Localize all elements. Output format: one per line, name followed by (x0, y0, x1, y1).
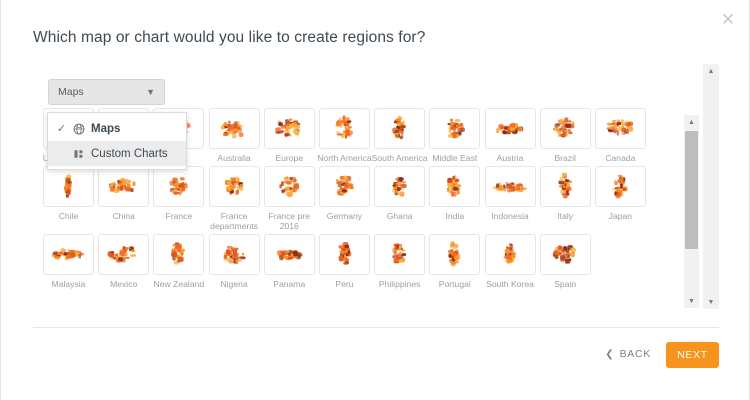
map-grid-item[interactable]: Spain (539, 234, 592, 290)
map-thumbnail-india[interactable] (429, 166, 480, 207)
map-grid-item[interactable]: France departments (208, 166, 261, 232)
map-thumbnail-label: South Korea (479, 279, 541, 290)
map-thumbnail-middle-east[interactable] (429, 108, 480, 149)
map-thumbnail-label: Spain (534, 279, 596, 290)
map-grid-item[interactable]: South America (373, 108, 426, 164)
map-thumbnail-indonesia[interactable] (485, 166, 536, 207)
map-grid-item[interactable]: China (97, 166, 150, 232)
back-button[interactable]: ❮ BACK (605, 348, 651, 360)
map-type-dropdown-value: Maps (58, 86, 146, 98)
map-type-dropdown-menu[interactable]: ✓MapsCustom Charts (47, 112, 187, 170)
map-thumbnail-portugal[interactable] (429, 234, 480, 275)
map-thumbnail-ghana[interactable] (374, 166, 425, 207)
map-thumbnail-label: China (93, 211, 155, 222)
globe-icon (69, 123, 89, 135)
map-thumbnail-europe[interactable] (264, 108, 315, 149)
footer-divider (33, 327, 719, 328)
back-button-label: BACK (620, 348, 651, 360)
map-grid-item[interactable]: India (428, 166, 481, 232)
map-grid-item[interactable]: Austria (484, 108, 537, 164)
map-grid-item[interactable]: Europe (263, 108, 316, 164)
map-grid-item[interactable]: New Zealand (152, 234, 205, 290)
map-thumbnail-peru[interactable] (319, 234, 370, 275)
map-thumbnail-label: New Zealand (148, 279, 210, 290)
map-grid-item[interactable]: Peru (318, 234, 371, 290)
map-thumbnail-italy[interactable] (540, 166, 591, 207)
map-grid-item[interactable]: Portugal (428, 234, 481, 290)
map-thumbnail-brazil[interactable] (540, 108, 591, 149)
map-thumbnail-mexico[interactable] (98, 234, 149, 275)
map-thumbnail-canada[interactable] (595, 108, 646, 149)
page-title: Which map or chart would you like to cre… (33, 29, 425, 47)
dropdown-option-label: Maps (89, 123, 120, 135)
map-grid-item[interactable]: Philippines (373, 234, 426, 290)
map-thumbnail-label: Mexico (93, 279, 155, 290)
grid-scrollbar[interactable]: ▲ ▼ (684, 115, 699, 308)
grid-scroll-up-icon[interactable]: ▲ (684, 115, 699, 129)
map-grid-item[interactable]: Malaysia (42, 234, 95, 290)
map-thumbnail-label: Canada (589, 153, 651, 164)
dropdown-option-label: Custom Charts (89, 148, 168, 160)
next-button[interactable]: NEXT (666, 342, 719, 368)
map-thumbnail-label: India (424, 211, 486, 222)
map-thumbnail-nigeria[interactable] (209, 234, 260, 275)
map-grid-item[interactable]: Germany (318, 166, 371, 232)
map-thumbnail-label: Nigeria (203, 279, 265, 290)
dropdown-option-custom-charts[interactable]: Custom Charts (48, 141, 186, 166)
page-scroll-track[interactable] (703, 78, 719, 295)
map-grid-item[interactable]: Mexico (97, 234, 150, 290)
map-grid-item[interactable]: Panama (263, 234, 316, 290)
page-scrollbar[interactable]: ▲ ▼ (703, 64, 719, 309)
map-thumbnail-label: Panama (258, 279, 320, 290)
map-thumbnail-germany[interactable] (319, 166, 370, 207)
chevron-left-icon: ❮ (605, 349, 613, 360)
map-grid-item[interactable]: North America (318, 108, 371, 164)
map-thumbnail-japan[interactable] (595, 166, 646, 207)
map-thumbnail-label: Ghana (369, 211, 431, 222)
map-thumbnail-china[interactable] (98, 166, 149, 207)
map-thumbnail-label: Austria (479, 153, 541, 164)
close-icon[interactable]: ✕ (717, 8, 739, 30)
map-thumbnail-panama[interactable] (264, 234, 315, 275)
map-thumbnail-south-korea[interactable] (485, 234, 536, 275)
map-thumbnail-label: Indonesia (479, 211, 541, 222)
map-grid-item[interactable]: Italy (539, 166, 592, 232)
map-thumbnail-label: Japan (589, 211, 651, 222)
map-thumbnail-france-departments[interactable] (209, 166, 260, 207)
map-thumbnail-austria[interactable] (485, 108, 536, 149)
check-icon: ✓ (54, 122, 69, 135)
map-thumbnail-philippines[interactable] (374, 234, 425, 275)
map-thumbnail-label: Middle East (424, 153, 486, 164)
map-thumbnail-chile[interactable] (43, 166, 94, 207)
map-grid-item[interactable]: Japan (594, 166, 647, 232)
map-thumbnail-france[interactable] (153, 166, 204, 207)
map-thumbnail-label: France departments (203, 211, 265, 232)
map-grid-item[interactable]: Australia (208, 108, 261, 164)
map-thumbnail-label: Brazil (534, 153, 596, 164)
map-thumbnail-label: France (148, 211, 210, 222)
map-thumbnail-label: North America (313, 153, 375, 164)
map-thumbnail-label: Australia (203, 153, 265, 164)
map-thumbnail-spain[interactable] (540, 234, 591, 275)
grid-scroll-thumb[interactable] (685, 131, 698, 249)
map-thumbnail-australia[interactable] (209, 108, 260, 149)
map-grid-item[interactable]: Canada (594, 108, 647, 164)
map-grid-item[interactable]: South Korea (484, 234, 537, 290)
map-grid-item[interactable]: Indonesia (484, 166, 537, 232)
map-thumbnail-label: France pre 2016 (258, 211, 320, 232)
map-type-dropdown[interactable]: Maps ▼ (48, 79, 165, 105)
map-grid-item[interactable]: Middle East (428, 108, 481, 164)
map-thumbnail-malaysia[interactable] (43, 234, 94, 275)
map-grid-item[interactable]: Ghana (373, 166, 426, 232)
map-grid-item[interactable]: Brazil (539, 108, 592, 164)
map-grid-item[interactable]: Chile (42, 166, 95, 232)
create-regions-dialog: ✕ Which map or chart would you like to c… (0, 0, 750, 400)
bar-chart-icon (69, 148, 89, 160)
page-scroll-down-icon[interactable]: ▼ (703, 295, 719, 309)
map-thumbnail-france-pre-2016[interactable] (264, 166, 315, 207)
map-thumbnail-label: Europe (258, 153, 320, 164)
grid-scroll-down-icon[interactable]: ▼ (684, 294, 699, 308)
map-grid-item[interactable]: Nigeria (208, 234, 261, 290)
map-thumbnail-label: Italy (534, 211, 596, 222)
chevron-down-icon: ▼ (146, 87, 155, 97)
grid-scroll-track[interactable] (684, 129, 699, 294)
map-thumbnail-new-zealand[interactable] (153, 234, 204, 275)
map-thumbnail-label: Chile (38, 211, 100, 222)
next-button-label: NEXT (677, 349, 708, 361)
map-thumbnail-label: Malaysia (38, 279, 100, 290)
map-thumbnail-label: Germany (313, 211, 375, 222)
map-thumbnail-label: Philippines (369, 279, 431, 290)
map-thumbnail-label: Peru (313, 279, 375, 290)
map-thumbnail-north-america[interactable] (319, 108, 370, 149)
map-grid-item[interactable]: France pre 2016 (263, 166, 316, 232)
map-thumbnail-label: Portugal (424, 279, 486, 290)
map-thumbnail-south-america[interactable] (374, 108, 425, 149)
map-grid-item[interactable]: France (152, 166, 205, 232)
map-thumbnail-label: South America (369, 153, 431, 164)
dropdown-option-maps[interactable]: ✓Maps (48, 116, 186, 141)
page-scroll-up-icon[interactable]: ▲ (703, 64, 719, 78)
